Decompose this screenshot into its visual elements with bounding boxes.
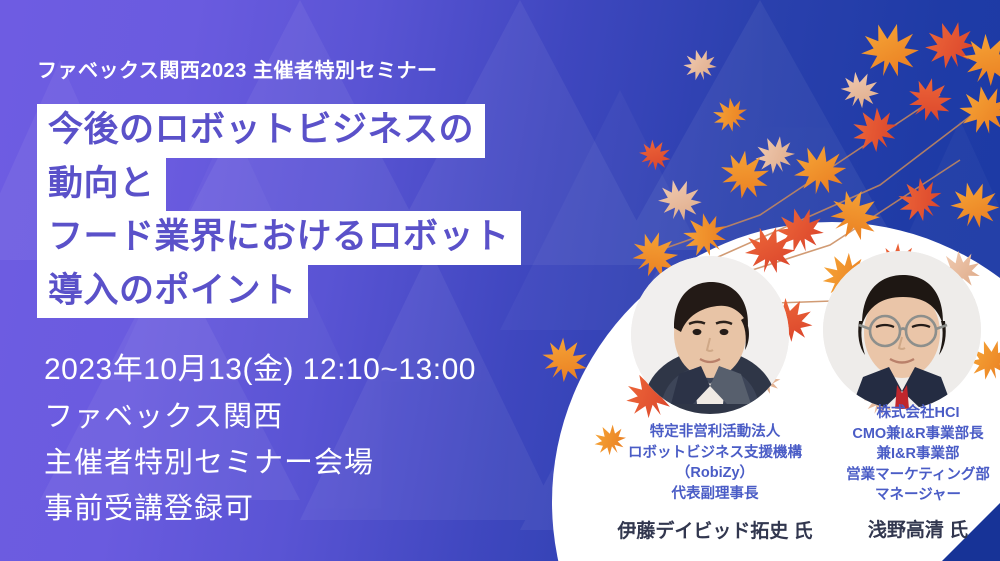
portrait-speaker-2: [823, 251, 981, 409]
venue-line-3: 事前受講登録可: [44, 487, 374, 533]
title-line-4: 導入のポイント: [37, 265, 308, 319]
title-line-3: フード業界におけるロボット: [37, 211, 521, 265]
speaker-2-affiliation-line-1: 株式会社HCI: [836, 403, 1000, 424]
speaker-2-affiliation-line-5: マネージャー: [836, 485, 1000, 506]
event-venue: ファベックス関西 主催者特別セミナー会場 事前受講登録可: [44, 395, 374, 532]
speaker-1-affiliation-line-4: 代表副理事長: [598, 484, 832, 505]
venue-line-1: ファベックス関西: [44, 395, 374, 441]
speaker-2-affiliation: 株式会社HCI CMO兼I&R事業部長 兼I&R事業部 営業マーケティング部 マ…: [836, 403, 1000, 506]
page-title: 今後のロボットビジネスの 動向と フード業界におけるロボット 導入のポイント: [37, 104, 521, 318]
speaker-2-affiliation-line-3: 兼I&R事業部: [836, 444, 1000, 465]
seminar-kicker: ファベックス関西2023 主催者特別セミナー: [37, 54, 437, 83]
speaker-1-affiliation-line-2: ロボットビジネス支援機構: [598, 443, 832, 464]
event-date: 2023年10月13(金) 12:10~13:00: [44, 344, 476, 388]
speaker-2-affiliation-line-2: CMO兼I&R事業部長: [836, 424, 1000, 445]
speaker-1-name: 伊藤デイビッド拓史 氏: [598, 516, 832, 543]
title-line-2: 動向と: [37, 158, 166, 212]
speaker-2-name: 浅野高清 氏: [836, 515, 1000, 542]
speaker-1-affiliation-line-1: 特定非営利活動法人: [598, 422, 832, 443]
seminar-banner: ファベックス関西2023 主催者特別セミナー 今後のロボットビジネスの 動向と …: [0, 0, 1000, 561]
speaker-1-affiliation-line-3: （RobiZy）: [598, 463, 832, 484]
portrait-speaker-1: [631, 256, 789, 414]
venue-line-2: 主催者特別セミナー会場: [44, 441, 374, 487]
speaker-1-affiliation: 特定非営利活動法人 ロボットビジネス支援機構 （RobiZy） 代表副理事長: [598, 422, 832, 504]
speaker-2-affiliation-line-4: 営業マーケティング部: [836, 465, 1000, 486]
title-line-1: 今後のロボットビジネスの: [37, 104, 485, 158]
